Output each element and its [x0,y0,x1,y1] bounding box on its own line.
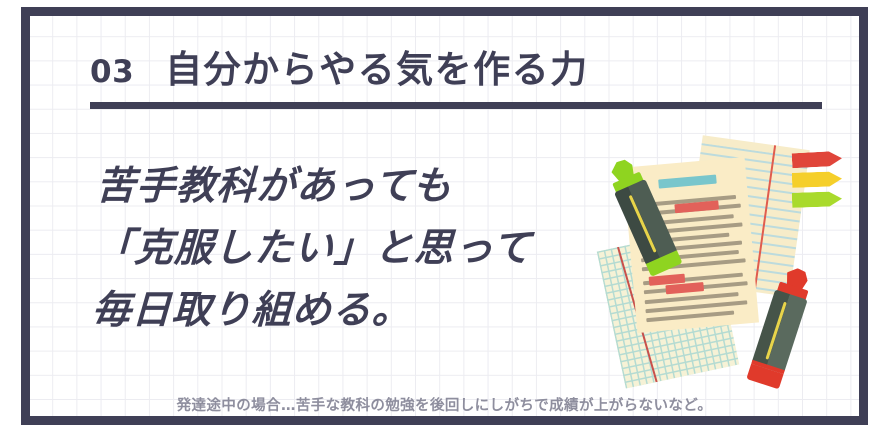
red-highlight-bar [665,282,704,294]
slide-frame: 03 自分からやる気を作る力 苦手教科があっても 「克服したい」と思って 毎日取… [21,7,868,425]
sticky-flag-yellow-icon [792,171,842,188]
footer-note: 発達途中の場合…苦手な教科の勉強を後回しにしがちで成績が上がらないなど。 [30,394,859,415]
study-papers-illustration [600,134,850,374]
sticky-flag-red-icon [792,151,843,169]
body-line-3: 毎日取り組める。 [91,280,531,342]
slide-canvas: 03 自分からやる気を作る力 苦手教科があっても 「克服したい」と思って 毎日取… [0,0,886,443]
body-copy: 苦手教科があっても 「克服したい」と思って 毎日取り組める。 [91,156,536,342]
body-line-1: 苦手教科があっても [95,156,535,218]
sticky-flags-group [792,152,848,214]
body-line-2: 「克服したい」と思って [93,218,533,280]
slide-content: 03 自分からやる気を作る力 苦手教科があっても 「克服したい」と思って 毎日取… [30,16,859,416]
page-title: 自分からやる気を作る力 [165,39,589,93]
section-number: 03 [90,54,134,90]
document-text-line [646,311,734,323]
slide-header: 03 自分からやる気を作る力 [90,39,589,93]
title-underline-rule [90,102,822,109]
sticky-flag-green-icon [792,191,842,208]
